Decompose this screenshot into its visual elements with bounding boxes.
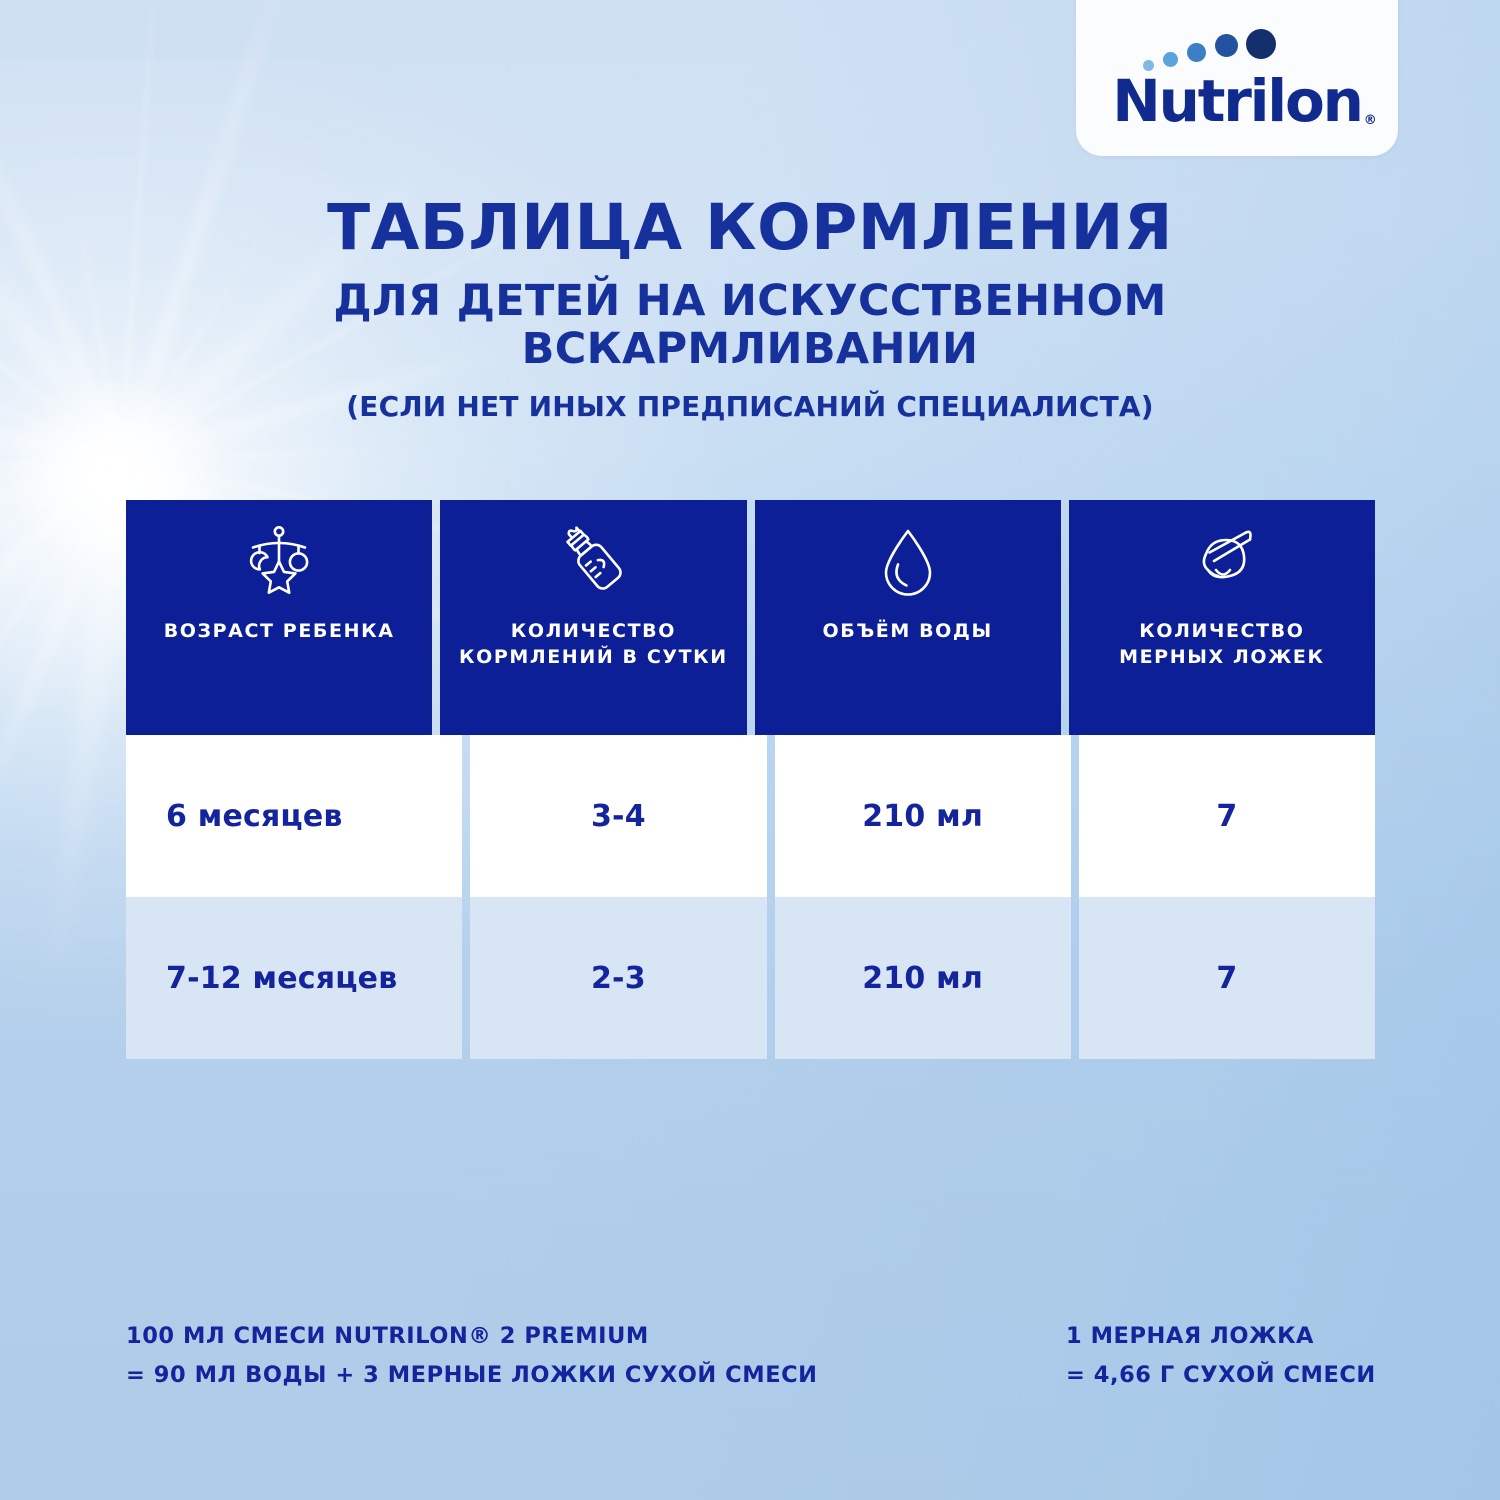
cell-feedings: 2-3 [470, 897, 766, 1059]
table-row: 7-12 месяцев 2-3 210 мл 7 [126, 897, 1375, 1059]
table-header-label-scoops: КОЛИЧЕСТВО МЕРНЫХ ЛОЖЕК [1119, 618, 1325, 670]
footnote-left: 100 МЛ СМЕСИ NUTRILON® 2 PREMIUM = 90 МЛ… [126, 1317, 1066, 1395]
header-label-line2: МЕРНЫХ ЛОЖЕК [1119, 644, 1325, 670]
promo-page: Nutrilon ® ТАБЛИЦА КОРМЛЕНИЯ ДЛЯ ДЕТЕЙ Н… [0, 0, 1500, 1500]
page-title: ТАБЛИЦА КОРМЛЕНИЯ [0, 195, 1500, 261]
table-header-label-age: ВОЗРАСТ РЕБЕНКА [164, 618, 395, 644]
baby-bottle-icon [547, 500, 639, 618]
footnote-right: 1 МЕРНАЯ ЛОЖКА = 4,66 Г СУХОЙ СМЕСИ [1066, 1317, 1406, 1395]
water-drop-icon [869, 500, 947, 618]
footnote-right-line1: 1 МЕРНАЯ ЛОЖКА [1066, 1317, 1406, 1356]
header-label-line1: ОБЪЁМ ВОДЫ [823, 618, 993, 644]
table-header-label-water: ОБЪЁМ ВОДЫ [823, 618, 993, 644]
page-note: (ЕСЛИ НЕТ ИНЫХ ПРЕДПИСАНИЙ СПЕЦИАЛИСТА) [0, 390, 1500, 424]
brand-wordmark: Nutrilon ® [1112, 72, 1361, 130]
cell-water: 210 мл [775, 897, 1071, 1059]
table-header-cell-water: ОБЪЁМ ВОДЫ [755, 500, 1061, 735]
footnotes-block: 100 МЛ СМЕСИ NUTRILON® 2 PREMIUM = 90 МЛ… [126, 1317, 1406, 1395]
feeding-table: ВОЗРАСТ РЕБЕНКА [126, 500, 1375, 1059]
cell-water: 210 мл [775, 735, 1071, 897]
brand-name-text: Nutrilon [1112, 67, 1361, 135]
brand-logo-card: Nutrilon ® [1076, 0, 1398, 156]
cell-age: 7-12 месяцев [126, 897, 462, 1059]
brand-dots-icon [1131, 29, 1343, 71]
table-header-cell-age: ВОЗРАСТ РЕБЕНКА [126, 500, 432, 735]
headline-block: ТАБЛИЦА КОРМЛЕНИЯ ДЛЯ ДЕТЕЙ НА ИСКУССТВЕ… [0, 195, 1500, 423]
table-row: 6 месяцев 3-4 210 мл 7 [126, 735, 1375, 897]
header-label-line1: ВОЗРАСТ РЕБЕНКА [164, 618, 395, 644]
header-label-line1: КОЛИЧЕСТВО [1119, 618, 1325, 644]
registered-mark: ® [1364, 114, 1377, 127]
footnote-left-line2: = 90 МЛ ВОДЫ + 3 МЕРНЫЕ ЛОЖКИ СУХОЙ СМЕС… [126, 1356, 1066, 1395]
cell-feedings: 3-4 [470, 735, 766, 897]
cell-scoops: 7 [1079, 897, 1375, 1059]
table-header-label-feedings: КОЛИЧЕСТВО КОРМЛЕНИЙ В СУТКИ [459, 618, 728, 670]
header-label-line1: КОЛИЧЕСТВО [459, 618, 728, 644]
header-label-line2: КОРМЛЕНИЙ В СУТКИ [459, 644, 728, 670]
table-header-cell-feedings: КОЛИЧЕСТВО КОРМЛЕНИЙ В СУТКИ [440, 500, 746, 735]
measuring-scoop-icon [1176, 500, 1268, 618]
page-subtitle: ДЛЯ ДЕТЕЙ НА ИСКУССТВЕННОМ ВСКАРМЛИВАНИИ [260, 277, 1240, 373]
table-header-cell-scoops: КОЛИЧЕСТВО МЕРНЫХ ЛОЖЕК [1069, 500, 1375, 735]
cell-scoops: 7 [1079, 735, 1375, 897]
page-subtitle-line1: ДЛЯ ДЕТЕЙ НА ИСКУССТВЕННОМ [260, 277, 1240, 325]
cell-age: 6 месяцев [126, 735, 462, 897]
page-subtitle-line2: ВСКАРМЛИВАНИИ [260, 325, 1240, 373]
footnote-right-line2: = 4,66 Г СУХОЙ СМЕСИ [1066, 1356, 1406, 1395]
baby-mobile-icon [236, 500, 322, 618]
table-header-row: ВОЗРАСТ РЕБЕНКА [126, 500, 1375, 735]
footnote-left-line1: 100 МЛ СМЕСИ NUTRILON® 2 PREMIUM [126, 1317, 1066, 1356]
